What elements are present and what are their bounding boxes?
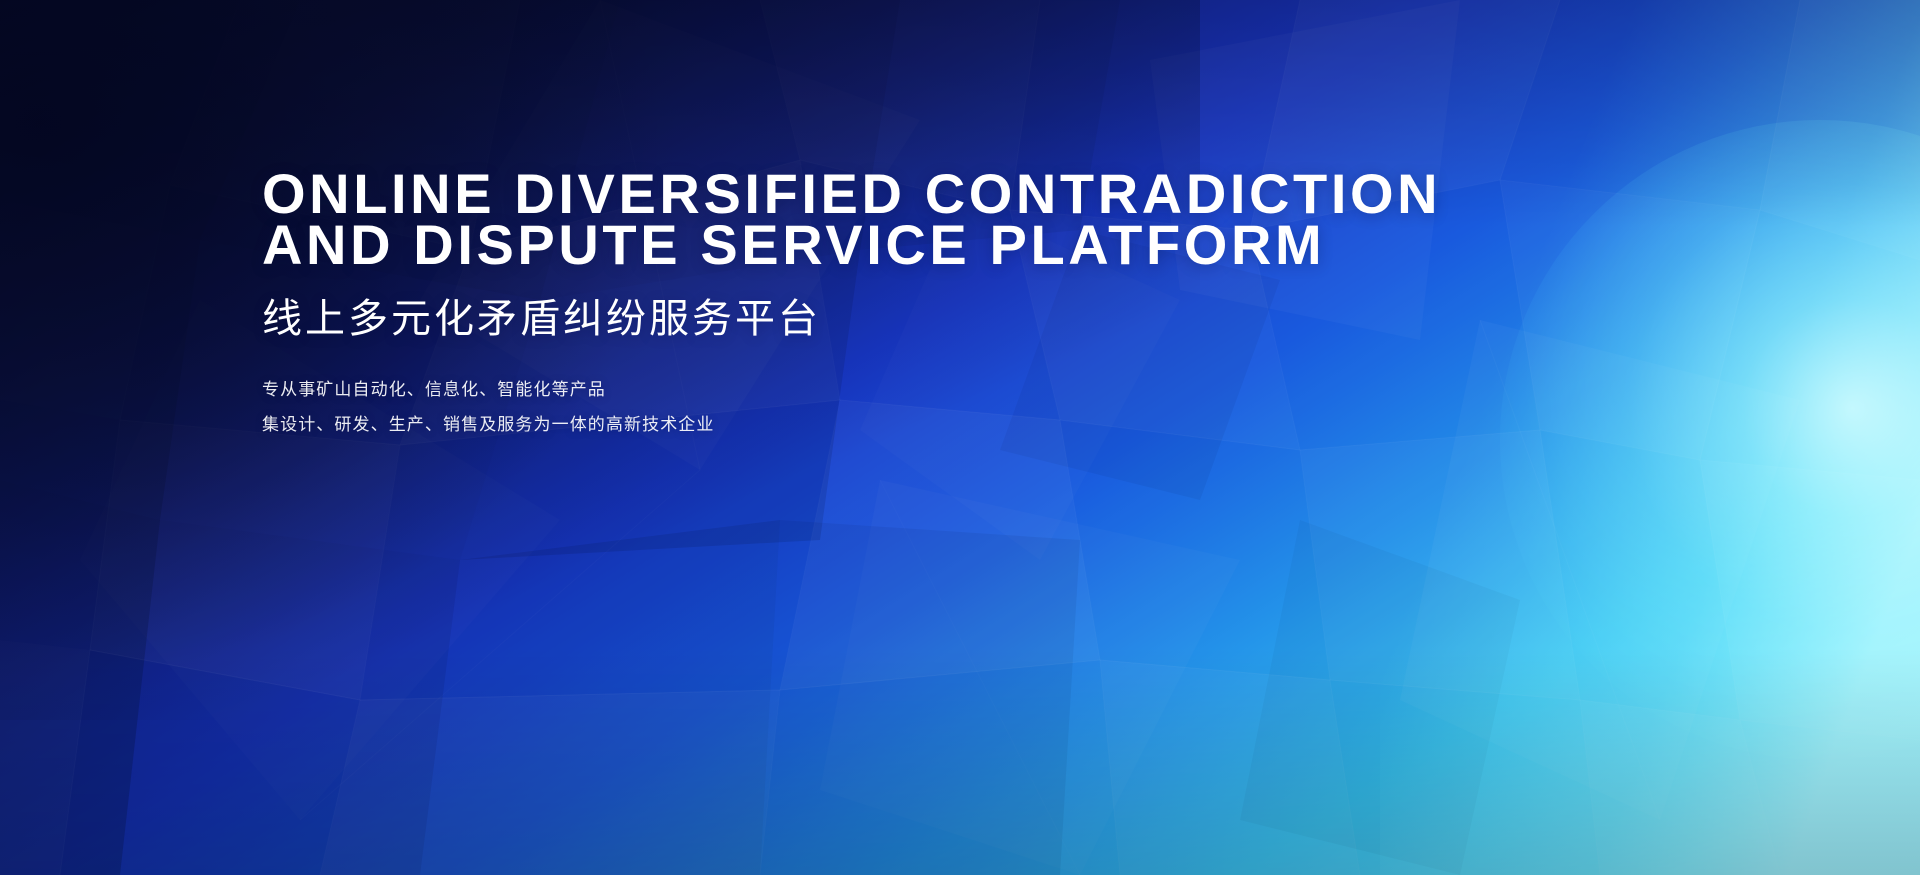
description-line: 专从事矿山自动化、信息化、智能化等产品 xyxy=(262,372,1512,407)
hero-description: 专从事矿山自动化、信息化、智能化等产品 集设计、研发、生产、销售及服务为一体的高… xyxy=(262,346,1512,442)
hero-content: ONLINE DIVERSIFIED CONTRADICTION AND DIS… xyxy=(262,168,1512,442)
hero-subtitle-chinese: 线上多元化矛盾纠纷服务平台 xyxy=(262,270,1512,346)
hero-banner: ONLINE DIVERSIFIED CONTRADICTION AND DIS… xyxy=(0,0,1920,875)
description-line: 集设计、研发、生产、销售及服务为一体的高新技术企业 xyxy=(262,407,1512,442)
hero-headline-english: ONLINE DIVERSIFIED CONTRADICTION AND DIS… xyxy=(262,168,1512,270)
